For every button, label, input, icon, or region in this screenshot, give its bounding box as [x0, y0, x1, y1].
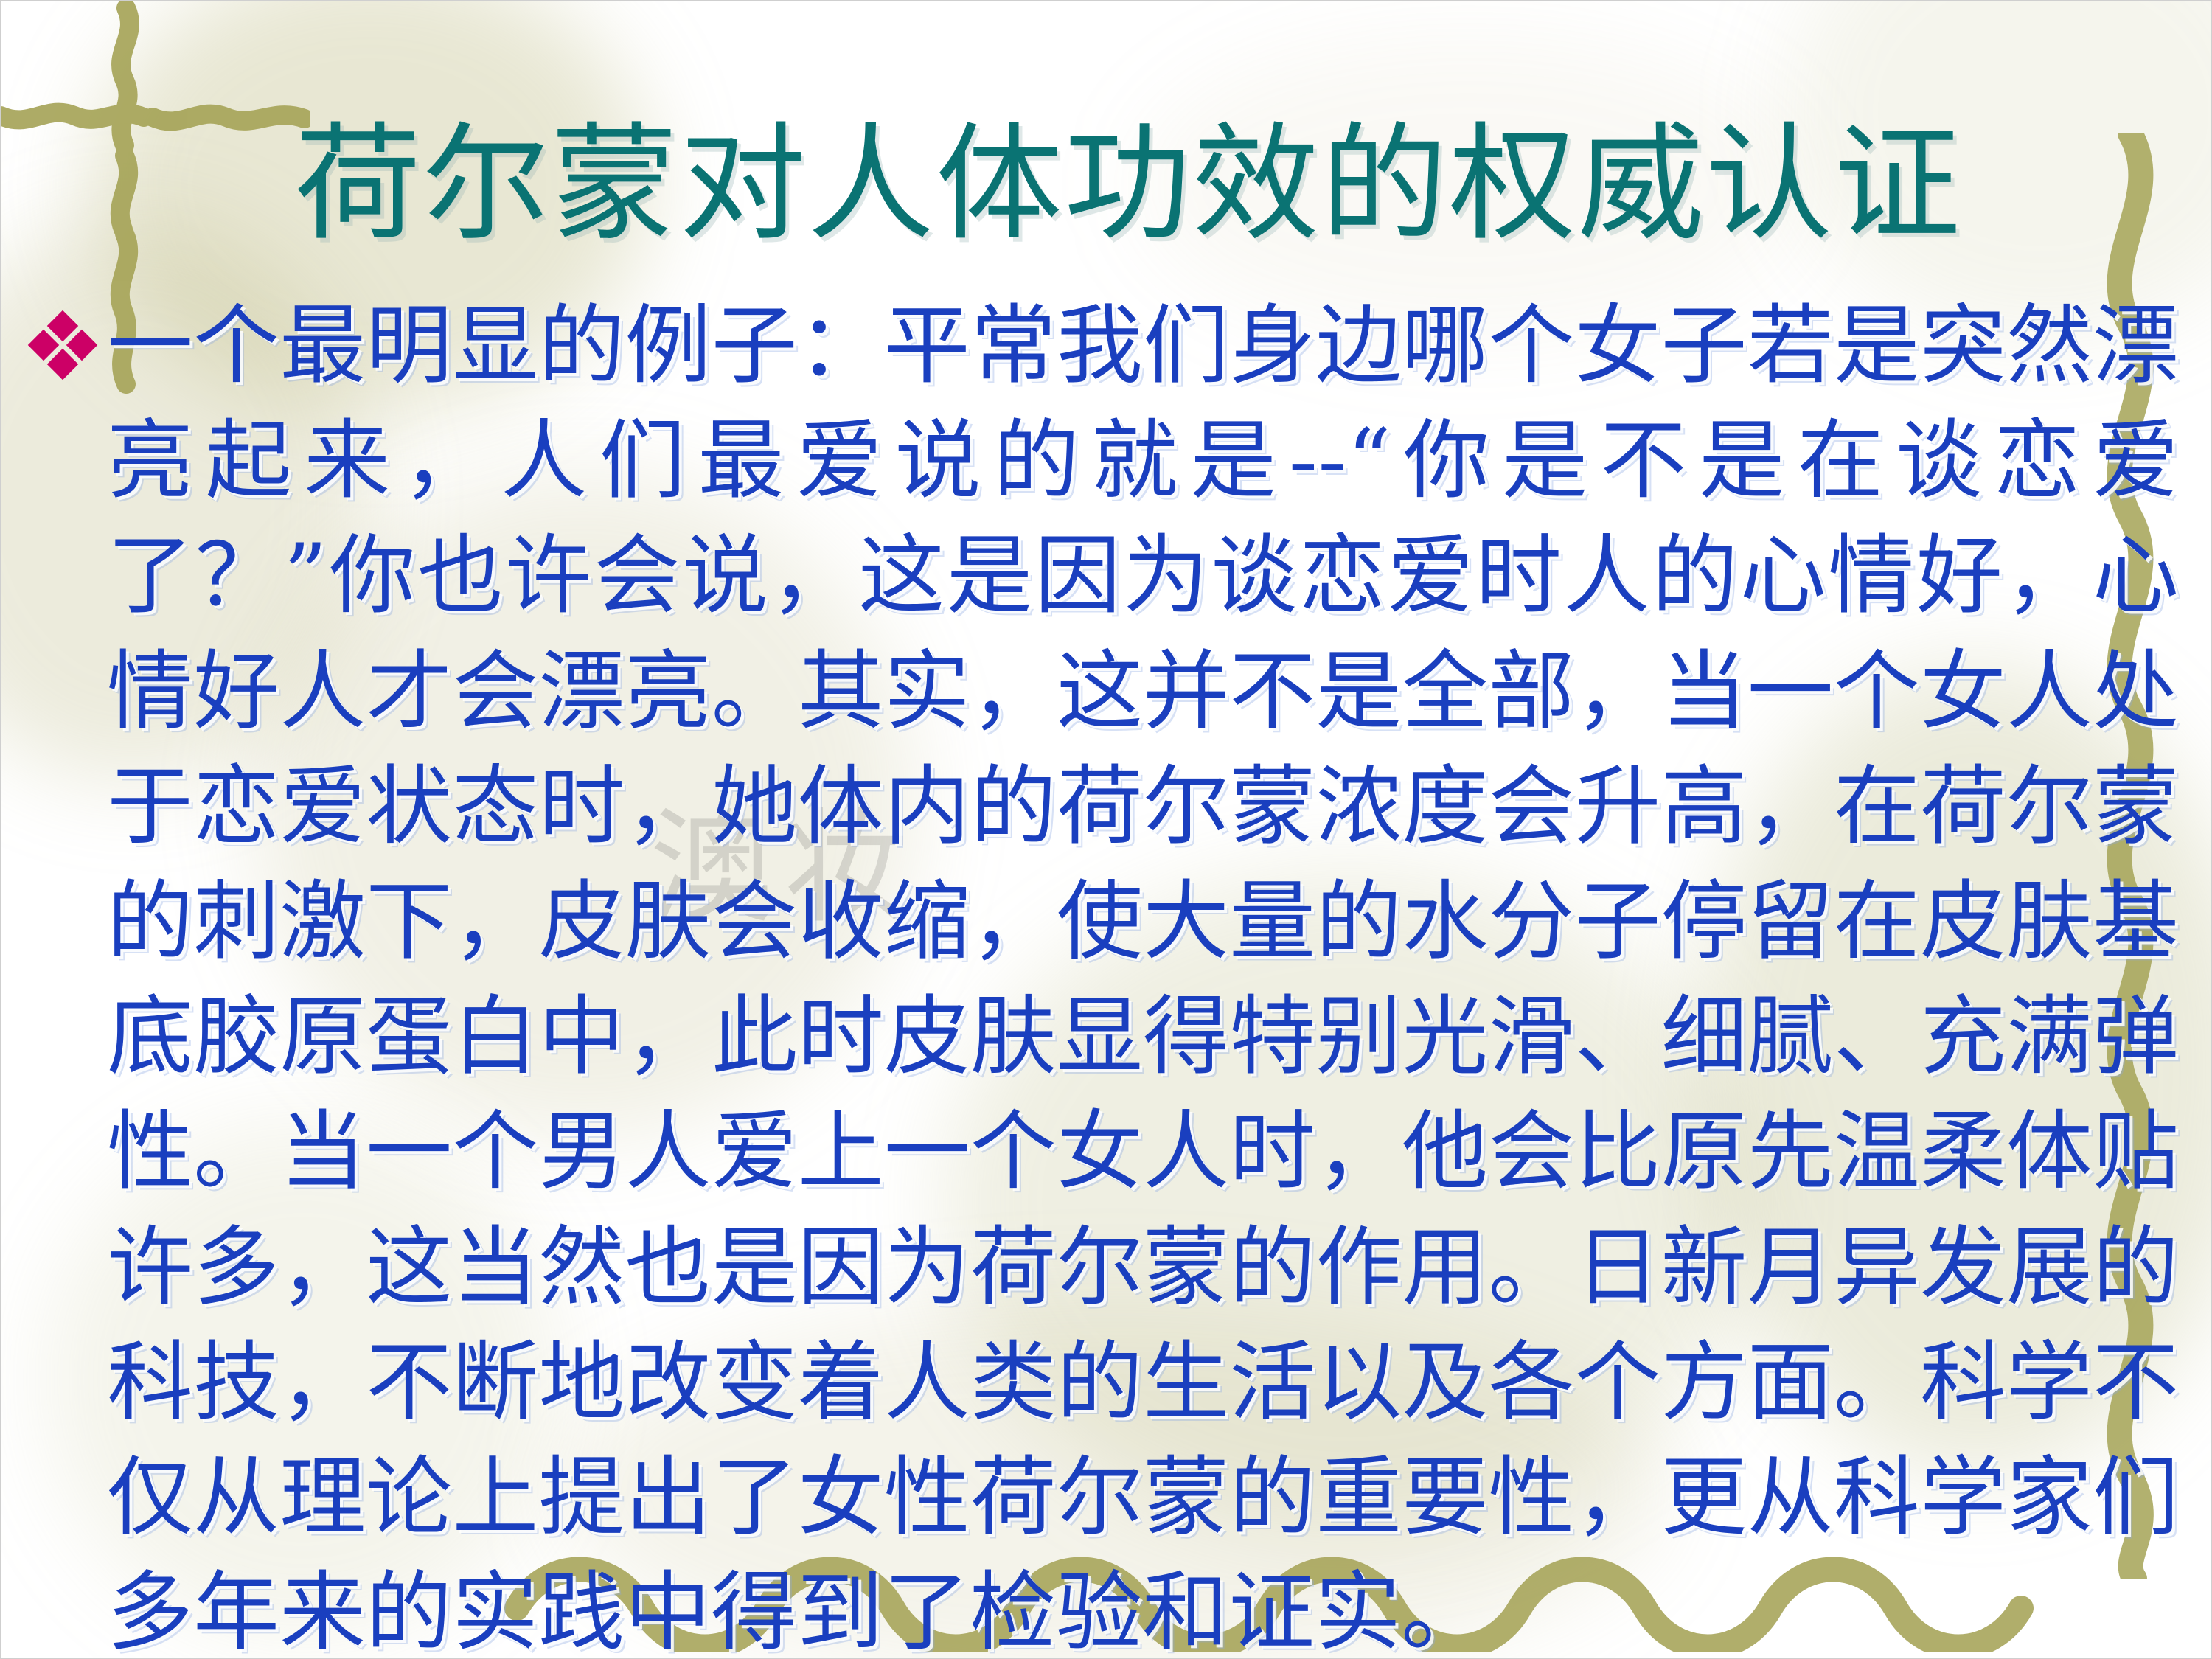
diamond-bottom	[47, 349, 78, 380]
bullet-paragraph: 一个最明显的例子：平常我们身边哪个女子若是突然漂亮起来，人们最爱说的就是--“你…	[18, 288, 2186, 1659]
diamond-right	[66, 330, 97, 361]
page-title: 荷尔蒙对人体功效的权威认证	[1, 121, 2211, 248]
presentation-slide: 澳妆 荷尔蒙对人体功效的权威认证 一个最明显的例子：平常我们身边哪个女子若是突然…	[0, 0, 2212, 1659]
body-paragraph-text: 一个最明显的例子：平常我们身边哪个女子若是突然漂亮起来，人们最爱说的就是--“你…	[107, 288, 2186, 1659]
diamond-cluster-bullet-icon	[18, 288, 107, 375]
